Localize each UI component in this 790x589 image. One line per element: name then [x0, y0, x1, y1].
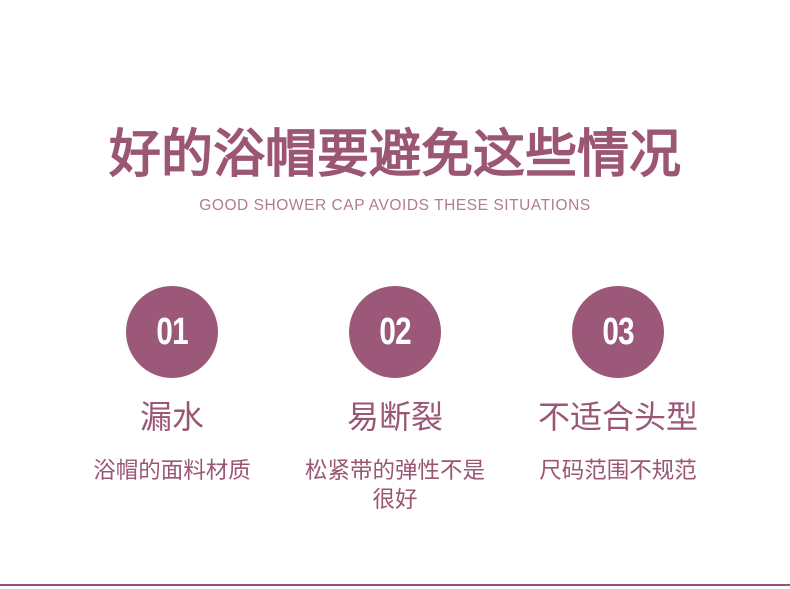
feature-item-03: 03 不适合头型 尺码范围不规范: [507, 286, 730, 485]
feature-item-02: 02 易断裂 松紧带的弹性不是很好: [284, 286, 507, 514]
heading-block: 好的浴帽要避免这些情况 GOOD SHOWER CAP AVOIDS THESE…: [0, 124, 790, 215]
number-badge-02: 02: [349, 286, 441, 378]
page-subtitle: GOOD SHOWER CAP AVOIDS THESE SITUATIONS: [0, 197, 790, 215]
badge-number-label: 01: [156, 313, 187, 351]
feature-title: 易断裂: [347, 398, 443, 436]
promo-banner: 好的浴帽要避免这些情况 GOOD SHOWER CAP AVOIDS THESE…: [0, 0, 790, 589]
page-title: 好的浴帽要避免这些情况: [0, 124, 790, 186]
bottom-divider: [0, 584, 790, 586]
feature-description: 松紧带的弹性不是很好: [303, 456, 488, 514]
feature-columns: 01 漏水 浴帽的面料材质 02 易断裂 松紧带的弹性不是很好 03 不适合头型…: [0, 286, 790, 536]
feature-description: 浴帽的面料材质: [93, 456, 251, 485]
badge-number-label: 03: [602, 313, 633, 351]
feature-title: 不适合头型: [538, 398, 698, 436]
number-badge-01: 01: [126, 286, 218, 378]
feature-description: 尺码范围不规范: [539, 456, 697, 485]
feature-item-01: 01 漏水 浴帽的面料材质: [61, 286, 284, 485]
badge-number-label: 02: [379, 313, 410, 351]
number-badge-03: 03: [572, 286, 664, 378]
feature-title: 漏水: [140, 398, 204, 436]
